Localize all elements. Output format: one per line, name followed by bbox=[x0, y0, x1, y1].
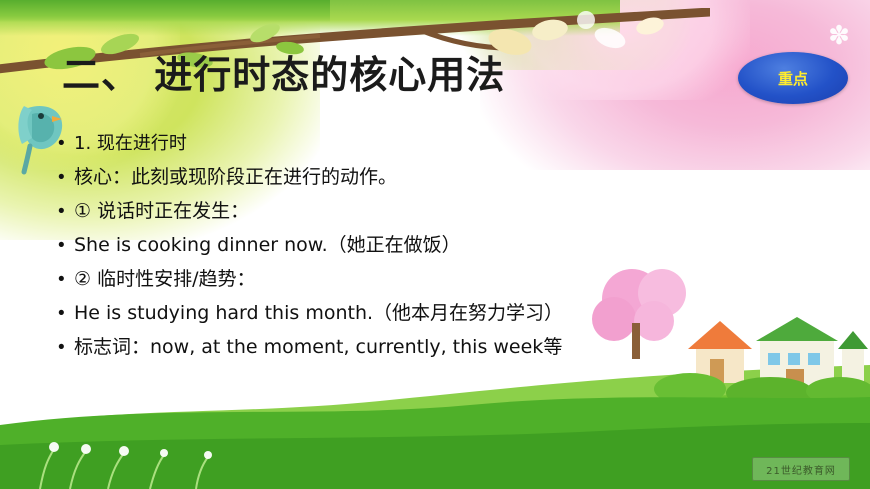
key-point-badge: 重点 bbox=[738, 52, 848, 104]
list-item-text: 1. 现在进行时 bbox=[74, 130, 187, 157]
list-item-text: ② 临时性安排/趋势： bbox=[74, 266, 255, 293]
list-item: • 核心：此刻或现阶段正在进行的动作。 bbox=[58, 164, 798, 191]
list-item-text: 核心：此刻或现阶段正在进行的动作。 bbox=[74, 164, 397, 191]
snowflake-icon: ✽ bbox=[826, 22, 852, 48]
list-item-text: ① 说话时正在发生： bbox=[74, 198, 249, 225]
list-item: • ① 说话时正在发生： bbox=[58, 198, 798, 225]
list-item: • ② 临时性安排/趋势： bbox=[58, 266, 798, 293]
list-item: • She is cooking dinner now.（她正在做饭） bbox=[58, 232, 798, 259]
page-title: 二、 进行时态的核心用法 bbox=[62, 44, 505, 99]
list-item: • He is studying hard this month.（他本月在努力… bbox=[58, 300, 798, 327]
list-item-text: He is studying hard this month.（他本月在努力学习… bbox=[74, 300, 563, 327]
bullet-marker-icon: • bbox=[58, 130, 74, 157]
content-bullet-list: • 1. 现在进行时 • 核心：此刻或现阶段正在进行的动作。 • ① 说话时正在… bbox=[58, 130, 798, 368]
bullet-marker-icon: • bbox=[58, 266, 74, 293]
slide-canvas: ✽ bbox=[0, 0, 870, 489]
bullet-marker-icon: • bbox=[58, 334, 74, 361]
bullet-marker-icon: • bbox=[58, 198, 74, 225]
list-item-text: She is cooking dinner now.（她正在做饭） bbox=[74, 232, 461, 259]
bullet-marker-icon: • bbox=[58, 164, 74, 191]
list-item: • 标志词：now, at the moment, currently, thi… bbox=[58, 334, 798, 361]
key-point-badge-label: 重点 bbox=[738, 52, 848, 104]
bullet-marker-icon: • bbox=[58, 300, 74, 327]
watermark-label: 21世纪教育网 bbox=[752, 457, 850, 481]
bullet-marker-icon: • bbox=[58, 232, 74, 259]
list-item-text: 标志词：now, at the moment, currently, this … bbox=[74, 334, 562, 361]
list-item: • 1. 现在进行时 bbox=[58, 130, 798, 157]
background-hill-front bbox=[0, 379, 870, 489]
